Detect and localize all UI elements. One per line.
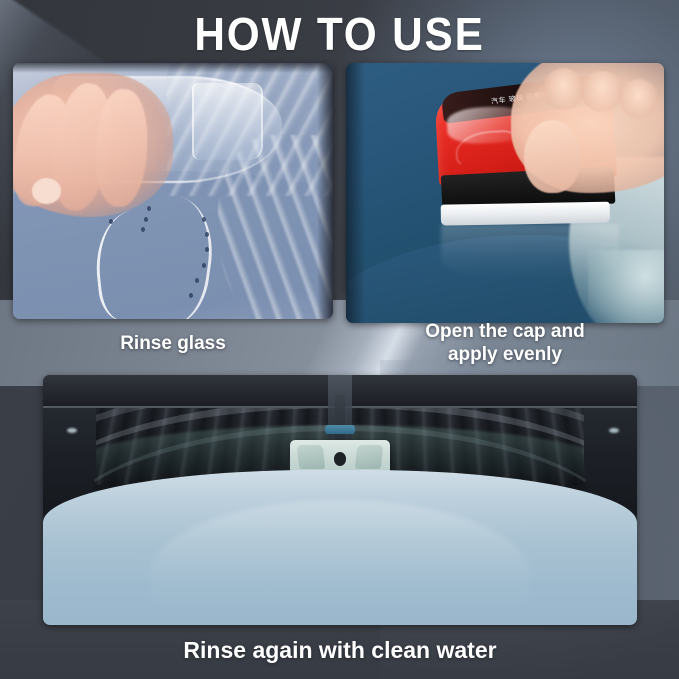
panel-left-shadow: [346, 63, 365, 323]
step-image-rinse-glass: [13, 63, 333, 319]
highlight-spark: [609, 428, 619, 433]
thumb: [524, 120, 581, 193]
panel-top-shadow: [13, 63, 333, 73]
knuckle: [581, 71, 622, 113]
step-image-open-cap-apply: 汽车 玻璃 防雨剂: [346, 63, 664, 323]
how-to-use-infographic: HOW TO USE: [0, 0, 679, 679]
rearview-mirror: [290, 440, 391, 474]
caption-line-1: Open the cap and: [346, 320, 664, 343]
caption-line-2: apply evenly: [346, 343, 664, 366]
mirror-seat-reflection-left: [296, 445, 325, 469]
knuckle: [543, 68, 584, 110]
panel-right-shadow: [317, 63, 333, 319]
caption-open-cap-apply: Open the cap and apply evenly: [346, 320, 664, 366]
step-image-rinse-again: [43, 375, 637, 625]
highlight-spark: [67, 428, 77, 433]
mirror-clip: [325, 425, 356, 434]
caption-rinse-glass: Rinse glass: [13, 332, 333, 356]
page-title: HOW TO USE: [27, 8, 652, 60]
knuckle: [619, 79, 657, 118]
caption-rinse-again: Rinse again with clean water: [43, 636, 637, 664]
mirror-headrest-reflection: [334, 452, 346, 466]
mirror-seat-reflection-right: [355, 445, 384, 469]
water-droplet-trail: [13, 63, 333, 319]
applicator-sponge-pad: [441, 202, 611, 226]
